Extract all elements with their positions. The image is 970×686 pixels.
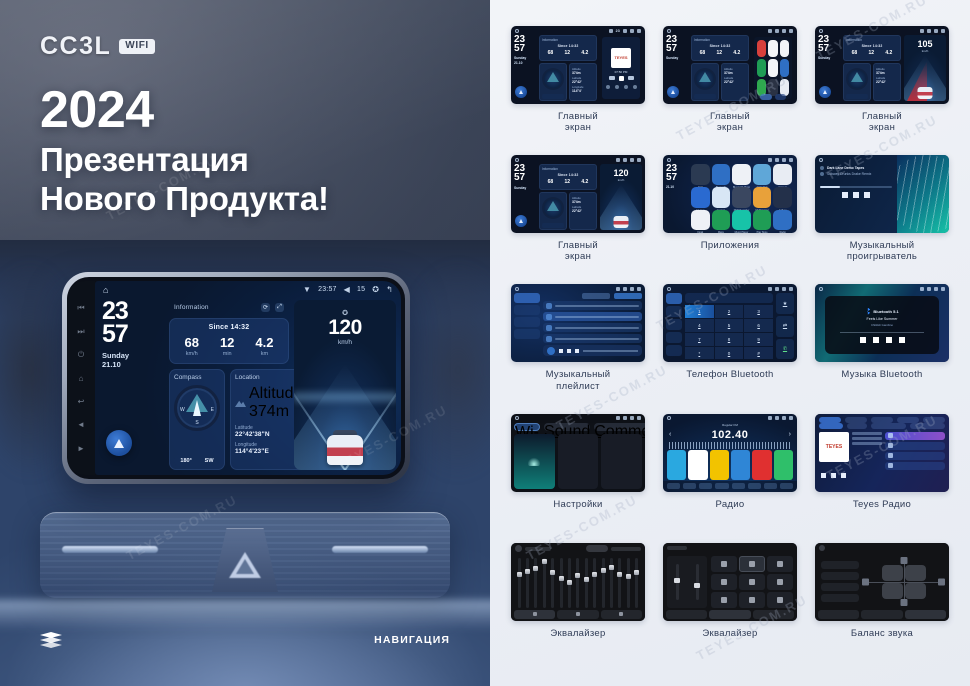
- mini-info-title: Information: [542, 38, 594, 42]
- prev-station-icon[interactable]: ‹: [669, 431, 671, 438]
- mini-stat-1: 68: [548, 50, 554, 56]
- head-unit-side-keys[interactable]: ⏮ ⏭ ⏻ ⌂ ↩ ◄ ►: [67, 281, 95, 475]
- trip-stat-time: 12 min: [220, 336, 234, 357]
- thumbnail-settings[interactable]: Wi-Fi Sound Common Theme Personal System: [511, 414, 645, 492]
- station-list[interactable]: [885, 432, 945, 470]
- app-icon-playstore[interactable]: Play Store: [753, 210, 772, 231]
- radio-frequency: 102.40: [712, 429, 749, 441]
- mini-hud: 105 km/h: [904, 40, 946, 53]
- thumbnail-home-hud-red[interactable]: 2357 Sunday Information Since 14:32 6812…: [815, 26, 949, 104]
- trip-stat-speed: 68 km/h: [184, 336, 198, 357]
- thumbnail-caption: Радио: [716, 499, 745, 510]
- preset-pad: [739, 592, 765, 608]
- preset-pad: [767, 556, 793, 572]
- app-icon-cleaner[interactable]: Cleaner: [691, 187, 710, 208]
- eq-band: [518, 558, 521, 608]
- bt-track-title: Feels Like Summer: [867, 317, 898, 321]
- navigation-caption: НАВИГАЦИЯ: [374, 634, 450, 646]
- altitude-value: 374m: [249, 403, 289, 420]
- side-key-power[interactable]: ⏻: [76, 350, 87, 359]
- trip-stat-speed-unit: km/h: [184, 351, 198, 357]
- playlist-tabs[interactable]: [543, 293, 642, 299]
- footer-fade: [905, 610, 946, 619]
- bt-number-field[interactable]: [685, 293, 773, 303]
- thumbnail-caption: Телефон Bluetooth: [686, 369, 773, 380]
- location-altitude-row: Altitude 374m: [235, 385, 302, 421]
- fader: [676, 564, 679, 600]
- mini-widgets: Information Since 14:32 68124.2 Altitude…: [843, 35, 901, 101]
- tab-common: Common: [594, 423, 645, 431]
- thumbnail-home-media[interactable]: 23 23 57 Sunday21.10 Information Since 1…: [511, 26, 645, 104]
- mini-hud-panel: 105 km/h: [904, 35, 946, 101]
- headline-line-2: Нового Продукта!: [40, 180, 329, 219]
- mini-stat-2: 12: [565, 50, 571, 56]
- grid-cell[interactable]: 2357 Sunday Information Since 14:32 6812…: [808, 26, 956, 155]
- refresh-icon[interactable]: ⟳: [261, 303, 270, 312]
- mountain-icon: [235, 399, 246, 407]
- side-key-next[interactable]: ⏭: [76, 327, 87, 336]
- thumbnail-home-hud[interactable]: 2357 Sunday Information Since 14:32 6812…: [511, 155, 645, 233]
- balance-presets[interactable]: [821, 561, 859, 602]
- thumbnail-home-apps[interactable]: 23 57 Sunday Information Since 14:32 681…: [663, 26, 797, 104]
- handle-left[interactable]: [862, 578, 869, 585]
- trip-stat-dist: 4.2 km: [255, 336, 273, 357]
- equalizer-bands[interactable]: [511, 555, 645, 610]
- thumbnail-caption: Музыкальныйпроигрыватель: [847, 240, 917, 262]
- head-unit-bezel-inner: ⏮ ⏭ ⏻ ⌂ ↩ ◄ ► ⌂ ▼ 23:57 ◀ 15: [67, 277, 405, 479]
- bt-phone-rail[interactable]: [666, 293, 682, 359]
- preset-3: [710, 450, 729, 480]
- thumbnail-radio[interactable]: Regular FM ‹ 102.40 ›: [663, 414, 797, 492]
- eq-band: [543, 558, 546, 608]
- side-key-home[interactable]: ⌂: [76, 374, 87, 383]
- track-artist: Subway Drunks Drake Remix: [827, 172, 871, 176]
- equalizer-footer[interactable]: [511, 610, 645, 621]
- mini-nav-fab: [515, 86, 527, 98]
- mini-home-layout: 23 57 Sunday21.10 Information Since 14:3…: [514, 35, 642, 101]
- player-time: 07:50 PM: [615, 70, 628, 74]
- status-time: 23:57: [318, 286, 337, 293]
- vent-slot-left: [62, 546, 158, 553]
- thumbnail-caption: Музыка Bluetooth: [841, 369, 922, 380]
- handle-right[interactable]: [938, 578, 945, 585]
- mini-trip-card: Information Since 14:32 68124.2: [691, 35, 749, 61]
- clock-widget: 23 57: [102, 300, 164, 346]
- headline-block: 2024 Презентация Нового Продукта!: [40, 84, 329, 219]
- app-icon-aux[interactable]: AUX: [691, 164, 710, 185]
- equalizer-presets-body: [663, 554, 797, 610]
- tab-wifi: Wi-Fi: [514, 423, 540, 431]
- logo-wifi-badge: WIFI: [119, 39, 155, 54]
- next-station-icon[interactable]: ›: [789, 431, 791, 438]
- playlist-nav[interactable]: [514, 293, 540, 359]
- equalizer-footer[interactable]: [663, 610, 797, 621]
- side-key-volume-up[interactable]: ►: [76, 444, 87, 453]
- hazard-button[interactable]: [212, 528, 278, 592]
- fader: [696, 564, 699, 600]
- key-8: 8: [715, 333, 744, 346]
- app-icon-kiosk[interactable]: Kiosk: [691, 210, 710, 231]
- teyes-radio-tabs[interactable]: [815, 414, 949, 423]
- presentation-slide: CC3L WIFI 2024 Презентация Нового Продук…: [0, 0, 970, 686]
- bt-progress-bar[interactable]: [840, 332, 924, 334]
- thumbnail-caption: Эквалайзер: [550, 628, 605, 639]
- hero-panel: CC3L WIFI 2024 Презентация Нового Продук…: [0, 0, 490, 686]
- navigation-arrow-icon: [114, 439, 124, 448]
- balance-footer[interactable]: [815, 610, 949, 621]
- bluetooth-icon: [865, 308, 870, 315]
- thumbnail-caption: Главный экран: [710, 111, 750, 133]
- teyes-radio-subtabs[interactable]: [815, 423, 949, 429]
- status-right-group: ▼ 23:57 ◀ 15 ✪ ↰: [303, 285, 393, 294]
- grid-cell[interactable]: Эквалайзер: [656, 543, 804, 672]
- app-drawer: 2357 21.10 AUX Bluetooth Bluetooth Music…: [666, 164, 794, 230]
- speed-icon: ✪: [294, 309, 396, 317]
- footer-surf: [557, 610, 598, 619]
- grid-cell[interactable]: 2357 21.10 AUX Bluetooth Bluetooth Music…: [656, 155, 804, 284]
- grid-cell[interactable]: Regular FM ‹ 102.40 ›: [656, 414, 804, 543]
- headline-year: 2024: [40, 84, 329, 137]
- key-2: 2: [715, 305, 744, 318]
- list-item: [885, 432, 945, 440]
- seat-grid: [882, 565, 926, 599]
- information-header: Information ⟳ ⤢: [169, 300, 289, 313]
- compass-title: Compass: [174, 374, 220, 381]
- play-pause-icon: [873, 337, 879, 343]
- eq-band: [618, 558, 621, 608]
- eq-band: [551, 558, 554, 608]
- compass-east-label: E: [211, 407, 214, 413]
- bt-music-panel: Bluetooth 5.1 Feels Like Summer Childish…: [825, 296, 939, 354]
- card-traffic[interactable]: [558, 434, 599, 489]
- list-item: [885, 442, 945, 450]
- grid-cell[interactable]: 23 57 Sunday Information Since 14:32 681…: [656, 26, 804, 155]
- clock-weekday: Sunday: [102, 351, 164, 360]
- mini-stats: 68 12 4.2: [542, 50, 594, 56]
- list-item[interactable]: [543, 301, 642, 310]
- mini-compass: [539, 63, 567, 101]
- app-icon-bluetooth[interactable]: Bluetooth: [712, 164, 731, 185]
- mini-player: TEYES 07:50 PM: [602, 37, 640, 99]
- balance-screen: [815, 543, 949, 621]
- trip-stat-dist-value: 4.2: [255, 336, 273, 349]
- list-item[interactable]: [543, 323, 642, 332]
- key-star: *: [685, 347, 714, 360]
- mini-dock: [760, 94, 786, 100]
- card-more[interactable]: [601, 434, 642, 489]
- screen-content: 23 57 Sunday 21.10: [95, 298, 401, 475]
- mini-hud-unit: km/h: [904, 49, 946, 53]
- app-icon-maps[interactable]: Maps: [712, 210, 731, 231]
- mini-status-bar: [511, 284, 645, 293]
- mini-lead-vehicle: [614, 216, 629, 228]
- eq-band: [635, 558, 638, 608]
- footer-eq: [818, 610, 859, 619]
- compass-dial: W E S: [174, 385, 220, 431]
- balance-stage[interactable]: [864, 559, 943, 604]
- prev-icon: [821, 473, 826, 478]
- mini-since: Since 14:32: [542, 44, 594, 48]
- thumbnail-equalizer-bands[interactable]: [511, 543, 645, 621]
- thumbnail-playlist[interactable]: [511, 284, 645, 362]
- preset-pad: [739, 574, 765, 590]
- mini-stat-3: 4.2: [581, 50, 588, 56]
- next-icon: [864, 192, 870, 198]
- grid-cell[interactable]: 2357 Sunday Information Since 14:32 6812…: [504, 155, 652, 284]
- equalizer-presets-screen: [663, 543, 797, 621]
- next-icon: [899, 337, 905, 343]
- eq-band: [526, 558, 529, 608]
- mini-status-bar: [663, 26, 797, 35]
- lead-vehicle-body: [327, 435, 363, 465]
- eq-icon: [515, 545, 522, 552]
- player-controls: [609, 76, 634, 81]
- track-title: Dark Lane Demo Tapes: [827, 166, 864, 170]
- playlist-body: [543, 293, 642, 359]
- bt-music-screen: Bluetooth 5.1 Feels Like Summer Childish…: [815, 284, 949, 362]
- transfer-icon: ⇄: [776, 316, 794, 337]
- clock-dayline: Sunday 21.10: [102, 351, 164, 370]
- logo-word: CC3L: [40, 32, 111, 61]
- preset-6: [774, 450, 793, 480]
- trip-stat-dist-unit: km: [255, 351, 273, 357]
- hud-panel[interactable]: ✪ 120 km/h: [294, 300, 396, 470]
- track-row-next[interactable]: Subway Drunks Drake Remix: [820, 172, 892, 176]
- eq-band: [627, 558, 630, 608]
- mini-status-bar: [511, 155, 645, 164]
- grid-cell[interactable]: Баланс звука: [808, 543, 956, 672]
- app-icon-carlist[interactable]: Car List: [712, 187, 731, 208]
- settings-screen: Wi-Fi Sound Common Theme Personal System: [514, 423, 642, 489]
- list-item[interactable]: [543, 312, 642, 321]
- thumbnail-caption: Главныйэкран: [862, 111, 902, 133]
- preset-pad: [739, 556, 765, 572]
- gear-icon[interactable]: ✪: [372, 285, 379, 294]
- preset-pad: [711, 574, 737, 590]
- thumbnail-music-player[interactable]: Dark Lane Demo Tapes Subway Drunks Drake…: [815, 155, 949, 233]
- bt-phone-screen: 1 2 3 4 5 6 7 8 9 * 0 #: [666, 293, 794, 359]
- mini-lead-vehicle: [918, 87, 933, 99]
- radio-presets[interactable]: [663, 449, 797, 481]
- mini-clock-day: Sunday: [514, 56, 526, 60]
- app-icon-camera[interactable]: Camera: [773, 164, 792, 185]
- side-key-back[interactable]: ↩: [76, 397, 87, 406]
- mini-hud-panel: 120 km/h: [600, 164, 642, 230]
- now-playing-bar[interactable]: [543, 345, 642, 356]
- grid-cell[interactable]: TEYES Teyes Радио: [808, 414, 956, 543]
- thumbnail-equalizer-presets[interactable]: [663, 543, 797, 621]
- mini-status-bar: [815, 26, 949, 35]
- station-art: TEYES: [819, 432, 849, 462]
- eq-band: [576, 558, 579, 608]
- thumbnail-caption: Главный экран: [558, 111, 598, 133]
- thumbnail-caption: Баланс звука: [851, 628, 913, 639]
- mini-nav-fab: [819, 86, 831, 98]
- balance-body: [815, 554, 949, 610]
- bt-version-row: Bluetooth 5.1: [865, 308, 898, 315]
- compass-readout: 180° SW: [174, 455, 220, 466]
- bt-keys[interactable]: 1 2 3 4 5 6 7 8 9 * 0 #: [685, 305, 773, 359]
- mini-status-bar: [663, 284, 797, 293]
- bt-track-artist: Childish Gambino: [871, 323, 893, 327]
- eq-band: [560, 558, 563, 608]
- teyes-radio-screen: TEYES: [815, 414, 949, 492]
- thumbnail-sound-balance[interactable]: [815, 543, 949, 621]
- player-controls[interactable]: [820, 192, 892, 198]
- app-icon-dvr[interactable]: DVR Recorder: [732, 187, 751, 208]
- player-extra: [606, 85, 637, 89]
- bt-actions[interactable]: ★⇄✆: [776, 293, 794, 359]
- mini-compass-dial: [542, 68, 564, 90]
- progress-bar[interactable]: [820, 186, 892, 188]
- album-art: TEYES: [611, 48, 631, 68]
- eq-band: [610, 558, 613, 608]
- location-latitude-row: Latitude 22°42'38"N: [235, 425, 302, 438]
- radio-toolbar[interactable]: [663, 481, 797, 492]
- grid-cell[interactable]: 23 23 57 Sunday21.10 Information Since 1…: [504, 26, 652, 155]
- clock-minutes: 57: [102, 323, 164, 346]
- mini-status-bar: [511, 414, 645, 423]
- track-row-current[interactable]: Dark Lane Demo Tapes: [820, 166, 892, 170]
- preset-pads[interactable]: [711, 556, 793, 608]
- mini-compass-foot: [542, 94, 564, 99]
- compass-west-label: W: [180, 407, 185, 413]
- bt-version-label: Bluetooth 5.1: [873, 309, 898, 314]
- grid-cell[interactable]: Bluetooth 5.1 Feels Like Summer Childish…: [808, 284, 956, 413]
- settings-tabs[interactable]: Wi-Fi Sound Common Theme Personal System: [514, 423, 642, 431]
- next-icon: [841, 473, 846, 478]
- preset-pill[interactable]: [586, 545, 608, 552]
- latitude-value: 22°42'38"N: [235, 431, 302, 438]
- thumbnail-teyes-radio[interactable]: TEYES: [815, 414, 949, 492]
- preset-pad: [767, 592, 793, 608]
- mini-clock-minutes: 57: [514, 43, 525, 54]
- compass-needle-icon: [193, 400, 201, 416]
- grid-cell[interactable]: Dark Lane Demo Tapes Subway Drunks Drake…: [808, 155, 956, 284]
- footer-fade: [753, 610, 794, 619]
- key-6: 6: [744, 319, 773, 332]
- dashboard-highlight: [0, 600, 490, 630]
- eq-band: [568, 558, 571, 608]
- hud-lead-vehicle: [327, 435, 363, 465]
- layers-badge: [40, 632, 62, 650]
- music-player-screen: Dark Lane Demo Tapes Subway Drunks Drake…: [815, 155, 949, 233]
- headline-line-1: Презентация: [40, 141, 329, 180]
- side-key-volume-down[interactable]: ◄: [76, 420, 87, 429]
- grid-cell[interactable]: Эквалайзер: [504, 543, 652, 672]
- list-item: [885, 452, 945, 460]
- trip-stats: 68 km/h 12 min 4.2 km: [174, 336, 284, 357]
- thumbnail-bt-phone[interactable]: 1 2 3 4 5 6 7 8 9 * 0 #: [663, 284, 797, 362]
- equalizer-header: [663, 543, 797, 554]
- eq-band: [534, 558, 537, 608]
- back-icon[interactable]: ↰: [386, 285, 393, 294]
- radio-screen: Regular FM ‹ 102.40 ›: [663, 423, 797, 492]
- player-left: Dark Lane Demo Tapes Subway Drunks Drake…: [815, 155, 897, 233]
- navigation-fab-button[interactable]: [106, 430, 132, 456]
- mini-trip-card: Information Since 14:32 68 12 4.2: [539, 35, 597, 61]
- app-icon-grid: AUX Bluetooth Bluetooth Music Calculator…: [691, 164, 794, 230]
- preset-pad: [711, 592, 737, 608]
- screens-grid: 23 23 57 Sunday21.10 Information Since 1…: [490, 0, 970, 686]
- hud-readout: ✪ 120 km/h: [294, 309, 396, 346]
- app-icon-calculator[interactable]: Calculator: [753, 164, 772, 185]
- screens-gallery-panel: 23 23 57 Sunday21.10 Information Since 1…: [490, 0, 970, 686]
- preset-5: [752, 450, 771, 480]
- footer-surf: [861, 610, 902, 619]
- app-icon-music[interactable]: Music Player: [732, 210, 751, 231]
- mini-clock: 2357 21.10: [666, 164, 688, 230]
- app-icon-bluetooth-music[interactable]: Bluetooth Music: [732, 164, 751, 185]
- head-unit-screen[interactable]: ⌂ ▼ 23:57 ◀ 15 ✪ ↰: [95, 281, 401, 475]
- key-7: 7: [685, 333, 714, 346]
- handle-bottom[interactable]: [900, 599, 907, 606]
- mini-location: Altitude374m Latitude22°42' Longitude114…: [569, 63, 597, 101]
- bt-controls[interactable]: [860, 337, 905, 343]
- location-title: Location: [235, 374, 302, 381]
- grid-cell[interactable]: 1 2 3 4 5 6 7 8 9 * 0 #: [656, 284, 804, 413]
- information-actions: ⟳ ⤢: [261, 303, 284, 312]
- expand-icon[interactable]: ⤢: [275, 303, 284, 312]
- preset-1: [667, 450, 686, 480]
- thumbnail-apps[interactable]: 2357 21.10 AUX Bluetooth Bluetooth Music…: [663, 155, 797, 233]
- thumbnail-caption: Музыкальныйплейлист: [546, 369, 611, 391]
- app-icon-radio[interactable]: Radio: [773, 210, 792, 231]
- preset-pad: [767, 574, 793, 590]
- vent-slot-right: [332, 546, 428, 553]
- preset-4: [731, 450, 750, 480]
- volume-icon: ◀: [344, 285, 350, 294]
- teyes-radio-body: TEYES: [815, 429, 949, 473]
- compass-heading: 180°: [180, 458, 191, 464]
- footer-eq: [666, 610, 707, 619]
- thumbnail-bt-music[interactable]: Bluetooth 5.1 Feels Like Summer Childish…: [815, 284, 949, 362]
- wifi-icon: ▼: [303, 285, 311, 294]
- mini-nav-fab: [667, 86, 679, 98]
- handle-top[interactable]: [900, 557, 907, 564]
- dashboard-vents: [40, 512, 450, 598]
- mini-status-bar: 23: [511, 26, 645, 35]
- balance-icon: [819, 545, 825, 551]
- grid-cell[interactable]: Wi-Fi Sound Common Theme Personal System: [504, 414, 652, 543]
- fader-group[interactable]: [667, 556, 707, 608]
- app-icon-gallery[interactable]: Gallery: [773, 187, 792, 208]
- radio-dial-scale[interactable]: [669, 442, 791, 449]
- teyes-radio-controls[interactable]: [815, 473, 949, 478]
- list-item[interactable]: [543, 334, 642, 343]
- settings-cards[interactable]: [514, 434, 642, 489]
- compass-card[interactable]: Compass W E S 180°: [169, 369, 225, 470]
- trip-stat-time-value: 12: [220, 336, 234, 349]
- head-unit-device: ⏮ ⏭ ⏻ ⌂ ↩ ◄ ► ⌂ ▼ 23:57 ◀ 15: [62, 272, 410, 484]
- screen-status-bar: ⌂ ▼ 23:57 ◀ 15 ✪ ↰: [95, 281, 401, 298]
- mini-media-panel: TEYES 07:50 PM: [600, 35, 642, 101]
- card-wifi[interactable]: [514, 434, 555, 489]
- mini-status-bar: [663, 414, 797, 423]
- wifi-icon: [528, 457, 540, 466]
- widget-column: Information ⟳ ⤢ Since 14:32: [169, 300, 289, 470]
- mini-home-layout: 2357 Sunday Information Since 14:32 6812…: [514, 164, 642, 230]
- trip-stat-time-unit: min: [220, 351, 234, 357]
- footer-fade: [601, 610, 642, 619]
- home-icon[interactable]: ⌂: [103, 285, 108, 295]
- thumbnail-caption: Приложения: [701, 240, 760, 251]
- app-icon-filemanager[interactable]: FileManager: [753, 187, 772, 208]
- grid-cell[interactable]: Музыкальныйплейлист: [504, 284, 652, 413]
- side-key-prev[interactable]: ⏮: [76, 303, 87, 312]
- trip-info-card[interactable]: Since 14:32 68 km/h 12 min: [169, 318, 289, 364]
- layers-icon: [40, 632, 62, 650]
